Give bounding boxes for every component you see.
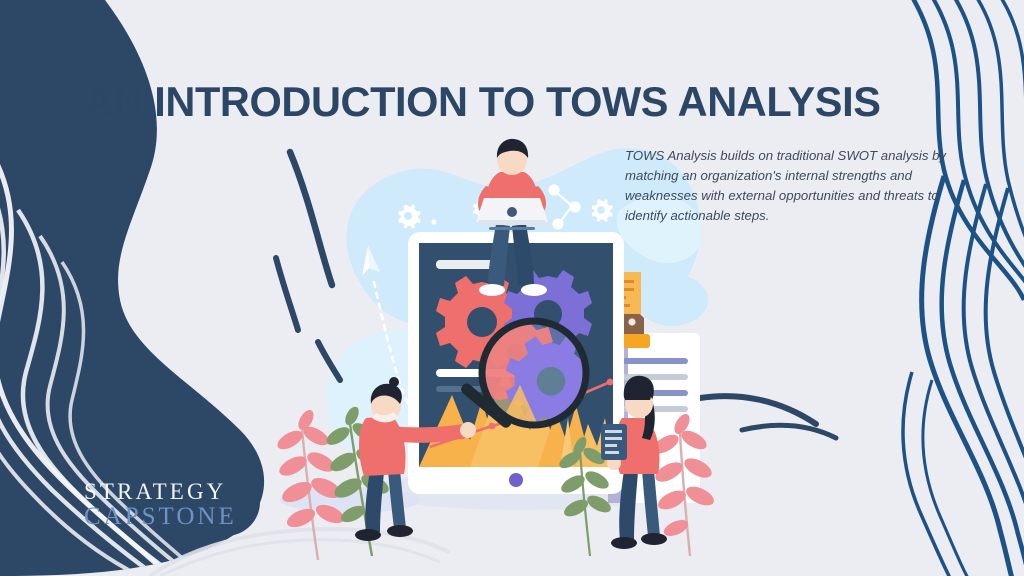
logo-line-strategy: STRATEGY xyxy=(84,480,304,503)
logo-line-capstone: CAPSTONE xyxy=(84,504,304,529)
slide-canvas: AN INTRODUCTION TO TOWS ANALYSIS TOWS An… xyxy=(0,0,1024,576)
slide-description: TOWS Analysis builds on traditional SWOT… xyxy=(625,146,970,226)
tablet-home-button xyxy=(509,473,523,487)
page-title: AN INTRODUCTION TO TOWS ANALYSIS xyxy=(84,80,964,124)
brand-logo: STRATEGY CAPSTONE xyxy=(84,480,304,529)
